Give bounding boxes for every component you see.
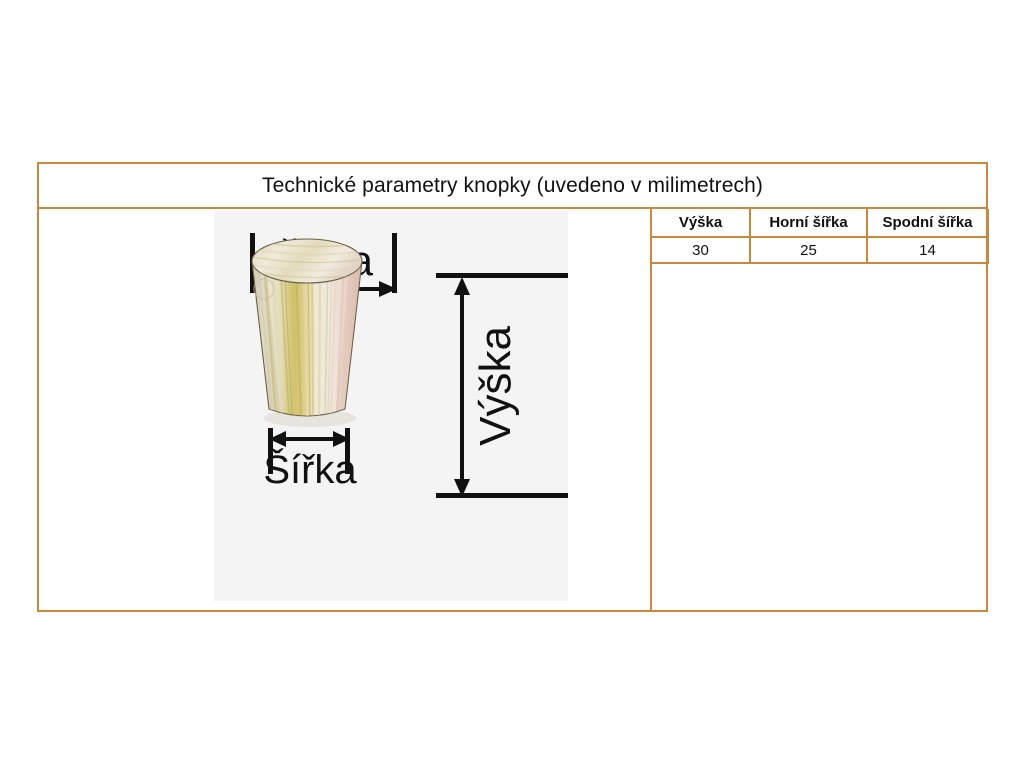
- height-tick-top: [436, 273, 568, 278]
- height-label: Výška: [471, 326, 520, 446]
- bottom-width-label: Šířka: [263, 447, 357, 492]
- height-arrow-line: [460, 287, 464, 487]
- page-root: Technické parametry knopky (uvedeno v mi…: [0, 0, 1024, 768]
- card-body: Šířka: [39, 209, 986, 610]
- spec-card: Technické parametry knopky (uvedeno v mi…: [37, 162, 988, 612]
- diagram-pane: Šířka: [39, 209, 652, 610]
- column-header-bottom-width: Spodní šířka: [867, 209, 988, 237]
- column-header-height: Výška: [652, 209, 750, 237]
- dimensions-table: Výška Horní šířka Spodní šířka 30 25 14: [652, 209, 989, 264]
- table-row: 30 25 14: [652, 237, 988, 263]
- table-header-row: Výška Horní šířka Spodní šířka: [652, 209, 988, 237]
- cell-bottom-width: 14: [867, 237, 988, 263]
- product-diagram: Šířka: [214, 211, 568, 601]
- knob-diagram-svg: Šířka: [214, 211, 568, 601]
- height-arrowhead-top: [454, 277, 470, 295]
- column-header-top-width: Horní šířka: [750, 209, 867, 237]
- table-body: 30 25 14: [652, 237, 988, 263]
- card-title-row: Technické parametry knopky (uvedeno v mi…: [39, 164, 986, 209]
- bottom-width-dimension: Šířka: [263, 428, 357, 492]
- cell-top-width: 25: [750, 237, 867, 263]
- height-tick-bottom: [436, 493, 568, 498]
- table-pane: Výška Horní šířka Spodní šířka 30 25 14: [652, 209, 986, 610]
- wooden-knob-illustration: [252, 239, 366, 427]
- page-title: Technické parametry knopky (uvedeno v mi…: [262, 174, 763, 198]
- cell-height: 30: [652, 237, 750, 263]
- table-head: Výška Horní šířka Spodní šířka: [652, 209, 988, 237]
- top-width-tick-right: [392, 233, 397, 293]
- height-dimension: Výška: [436, 273, 568, 498]
